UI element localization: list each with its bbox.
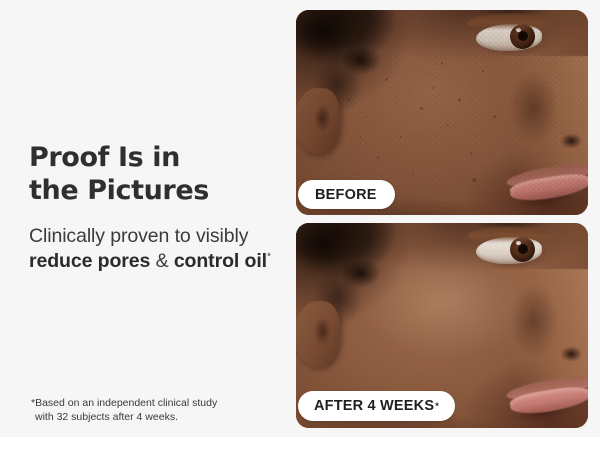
headline-line-2: the Pictures — [29, 174, 287, 207]
subheadline: Clinically proven to visibly reduce pore… — [29, 224, 287, 274]
subhead-text-conjunction: & — [150, 250, 174, 272]
footnote-line-1: *Based on an independent clinical study — [31, 396, 291, 410]
footnote-line-2: with 32 subjects after 4 weeks. — [31, 410, 291, 424]
subhead-footnote-marker: * — [267, 252, 271, 263]
copy-column: Proof Is in the Pictures Clinically prov… — [29, 0, 287, 437]
after-label-badge: AFTER 4 WEEKS* — [298, 391, 455, 421]
before-label-text: BEFORE — [315, 187, 377, 203]
footnote-disclaimer: *Based on an independent clinical study … — [31, 396, 291, 424]
subhead-emphasis-oil: control oil — [174, 250, 267, 272]
after-label-text: AFTER 4 WEEKS — [314, 398, 434, 414]
subhead-text-lead: Clinically proven to visibly — [29, 225, 248, 247]
page-title: Proof Is in the Pictures — [29, 141, 287, 207]
subhead-emphasis-pores: reduce pores — [29, 250, 150, 272]
headline-line-1: Proof Is in — [29, 141, 287, 174]
promo-banner: Proof Is in the Pictures Clinically prov… — [0, 0, 600, 450]
before-label-badge: BEFORE — [298, 180, 395, 209]
